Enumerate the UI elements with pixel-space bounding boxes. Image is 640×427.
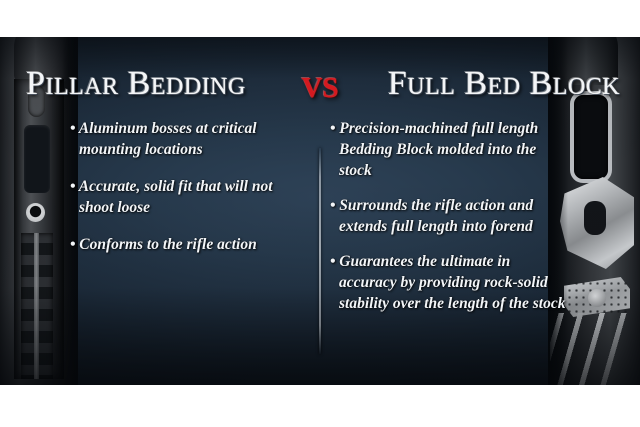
right-title: Full Bed Block xyxy=(368,67,640,101)
comparison-banner-page: Pillar Bedding vs Full Bed Block • Alumi… xyxy=(0,0,640,427)
right-column: • Precision-machined full length Bedding… xyxy=(320,112,640,382)
headline-row: Pillar Bedding vs Full Bed Block xyxy=(0,59,640,109)
list-item: • Guarantees the ultimate in accuracy by… xyxy=(330,251,570,314)
comparison-columns: • Aluminum bosses at critical mounting l… xyxy=(0,112,640,382)
column-divider xyxy=(319,148,321,354)
left-title: Pillar Bedding xyxy=(0,67,272,101)
list-item: • Accurate, solid fit that will not shoo… xyxy=(70,176,300,218)
list-item: • Conforms to the rifle action xyxy=(70,234,300,255)
comparison-banner: Pillar Bedding vs Full Bed Block • Alumi… xyxy=(0,37,640,385)
list-item: • Aluminum bosses at critical mounting l… xyxy=(70,118,300,160)
list-item: • Precision-machined full length Bedding… xyxy=(330,118,570,181)
vs-label: vs xyxy=(272,63,368,105)
list-item: • Surrounds the rifle action and extends… xyxy=(330,195,570,237)
left-column: • Aluminum bosses at critical mounting l… xyxy=(0,112,320,382)
